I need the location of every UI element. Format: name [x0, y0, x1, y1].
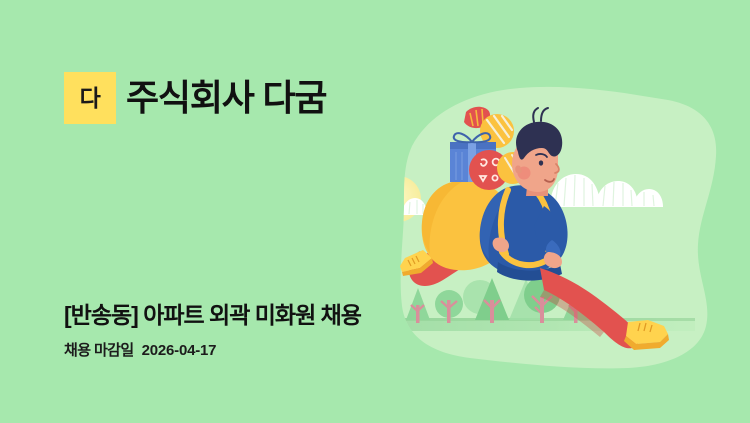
company-name: 주식회사 다굼: [126, 80, 326, 116]
illustration-canvas: [0, 0, 750, 423]
runner-eye: [539, 160, 543, 165]
job-posting-title: [반송동] 아파트 외곽 미화원 채용: [64, 303, 361, 328]
job-posting-banner: 다 주식회사 다굼 [반송동] 아파트 외곽 미화원 채용 채용 마감일 202…: [0, 0, 750, 423]
deadline-date: 2026-04-17: [142, 343, 217, 358]
deadline-row: 채용 마감일 2026-04-17: [64, 343, 216, 358]
deadline-label: 채용 마감일: [64, 343, 134, 358]
company-logo-badge: 다: [64, 72, 116, 124]
company-row: 다 주식회사 다굼: [64, 72, 326, 124]
company-logo-initial: 다: [80, 87, 101, 110]
